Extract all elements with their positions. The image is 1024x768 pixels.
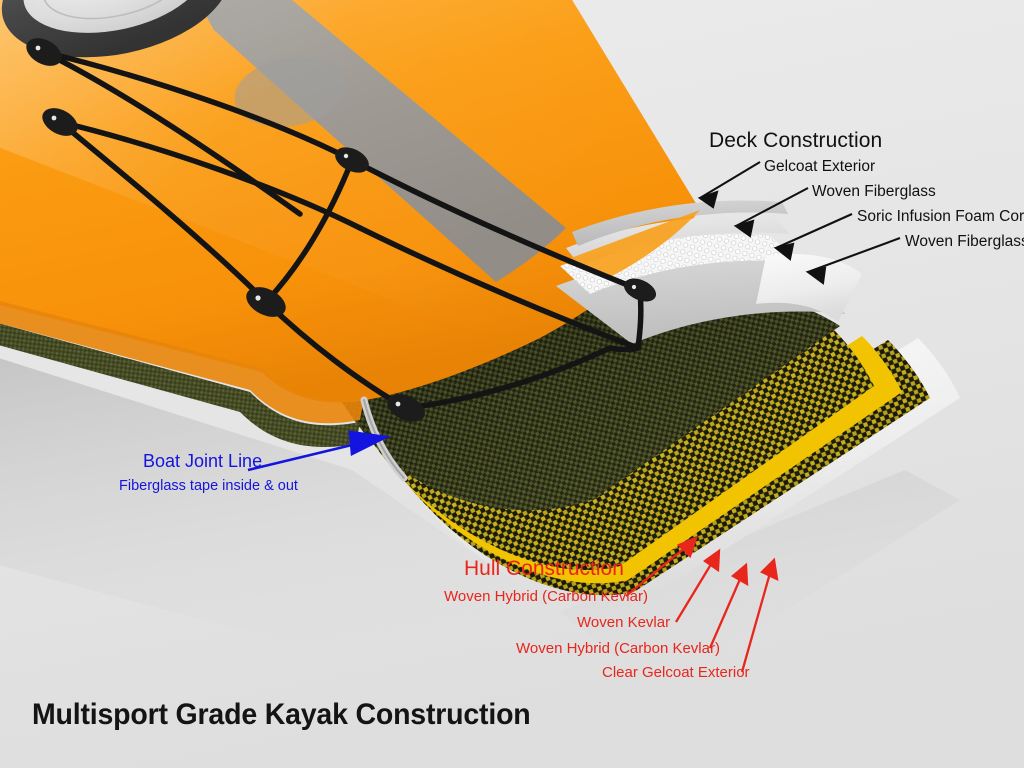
hull-label-woven-kevlar: Woven Kevlar xyxy=(577,615,670,630)
hull-label-hybrid-carbon-kevlar-2: Woven Hybrid (Carbon Kevlar) xyxy=(516,641,720,656)
diagram-canvas: Deck Construction Gelcoat Exterior Woven… xyxy=(0,0,1024,768)
hull-construction-heading: Hull Construction xyxy=(464,558,624,579)
deck-construction-heading: Deck Construction xyxy=(709,130,882,151)
joint-line-subtext: Fiberglass tape inside & out xyxy=(119,479,298,494)
deck-label-woven-fiberglass-outer: Woven Fiberglass xyxy=(812,184,936,200)
deck-label-soric-foam-core: Soric Infusion Foam Core xyxy=(857,209,1024,225)
hull-label-clear-gelcoat-exterior: Clear Gelcoat Exterior xyxy=(602,665,750,680)
joint-line-heading: Boat Joint Line xyxy=(143,452,262,470)
kayak-cutaway-illustration xyxy=(0,0,1024,768)
deck-label-woven-fiberglass-inner: Woven Fiberglass xyxy=(905,234,1024,250)
hull-label-hybrid-carbon-kevlar-1: Woven Hybrid (Carbon Kevlar) xyxy=(444,589,648,604)
page-title: Multisport Grade Kayak Construction xyxy=(32,698,531,732)
deck-label-gelcoat-exterior: Gelcoat Exterior xyxy=(764,159,875,175)
